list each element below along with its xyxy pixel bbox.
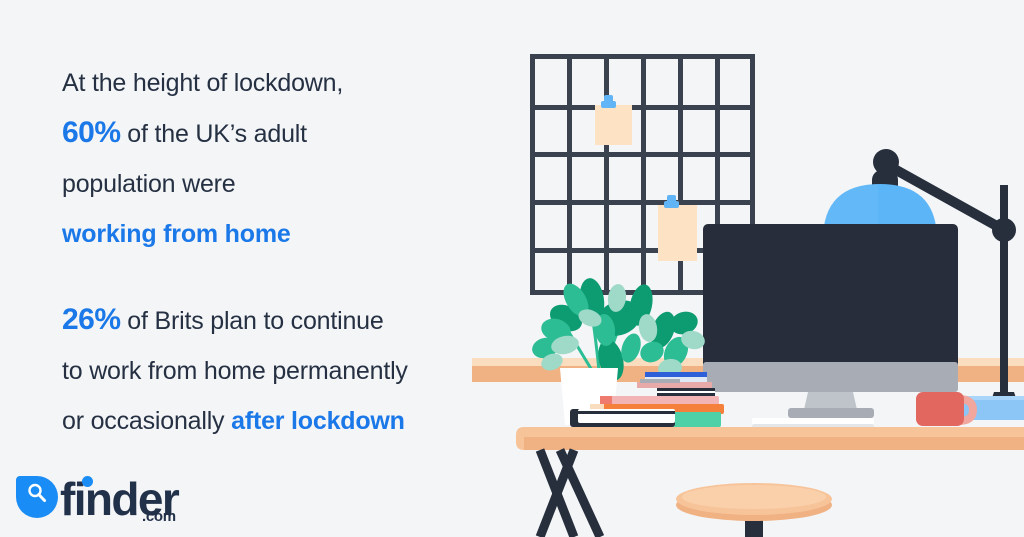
paragraph-1-line-2-rest: of the UK’s adult	[121, 120, 307, 148]
paragraph-1-line-1: At the height of lockdown,	[62, 69, 343, 97]
emphasis-working-from-home: working from home	[62, 220, 291, 248]
paragraph-2-line-2: to work from home permanently	[62, 357, 408, 385]
sticky-note	[595, 95, 632, 145]
copy-block: At the height of lockdown, 60% of the UK…	[62, 58, 462, 446]
infographic-canvas: At the height of lockdown, 60% of the UK…	[0, 0, 1024, 537]
stat-60-percent: 60%	[62, 116, 121, 149]
stool	[676, 483, 832, 537]
paragraph-1: At the height of lockdown, 60% of the UK…	[62, 58, 462, 259]
paragraph-2-line-3: or occasionally	[62, 407, 231, 435]
logo-i-dot	[82, 476, 93, 487]
magnifying-glass-icon	[26, 482, 48, 504]
logo-tld: .com	[142, 508, 176, 525]
paragraph-1-line-3: population were	[62, 170, 236, 198]
desktop-monitor	[703, 224, 958, 418]
desk-legs	[540, 450, 600, 537]
paragraph-2-line-1-rest: of Brits plan to continue	[121, 307, 384, 335]
desk	[516, 427, 1024, 450]
finder-logo[interactable]: finder .com	[16, 472, 191, 532]
stat-26-percent: 26%	[62, 303, 121, 336]
paragraph-2: 26% of Brits plan to continue to work fr…	[62, 295, 462, 446]
emphasis-after-lockdown: after lockdown	[231, 407, 405, 435]
